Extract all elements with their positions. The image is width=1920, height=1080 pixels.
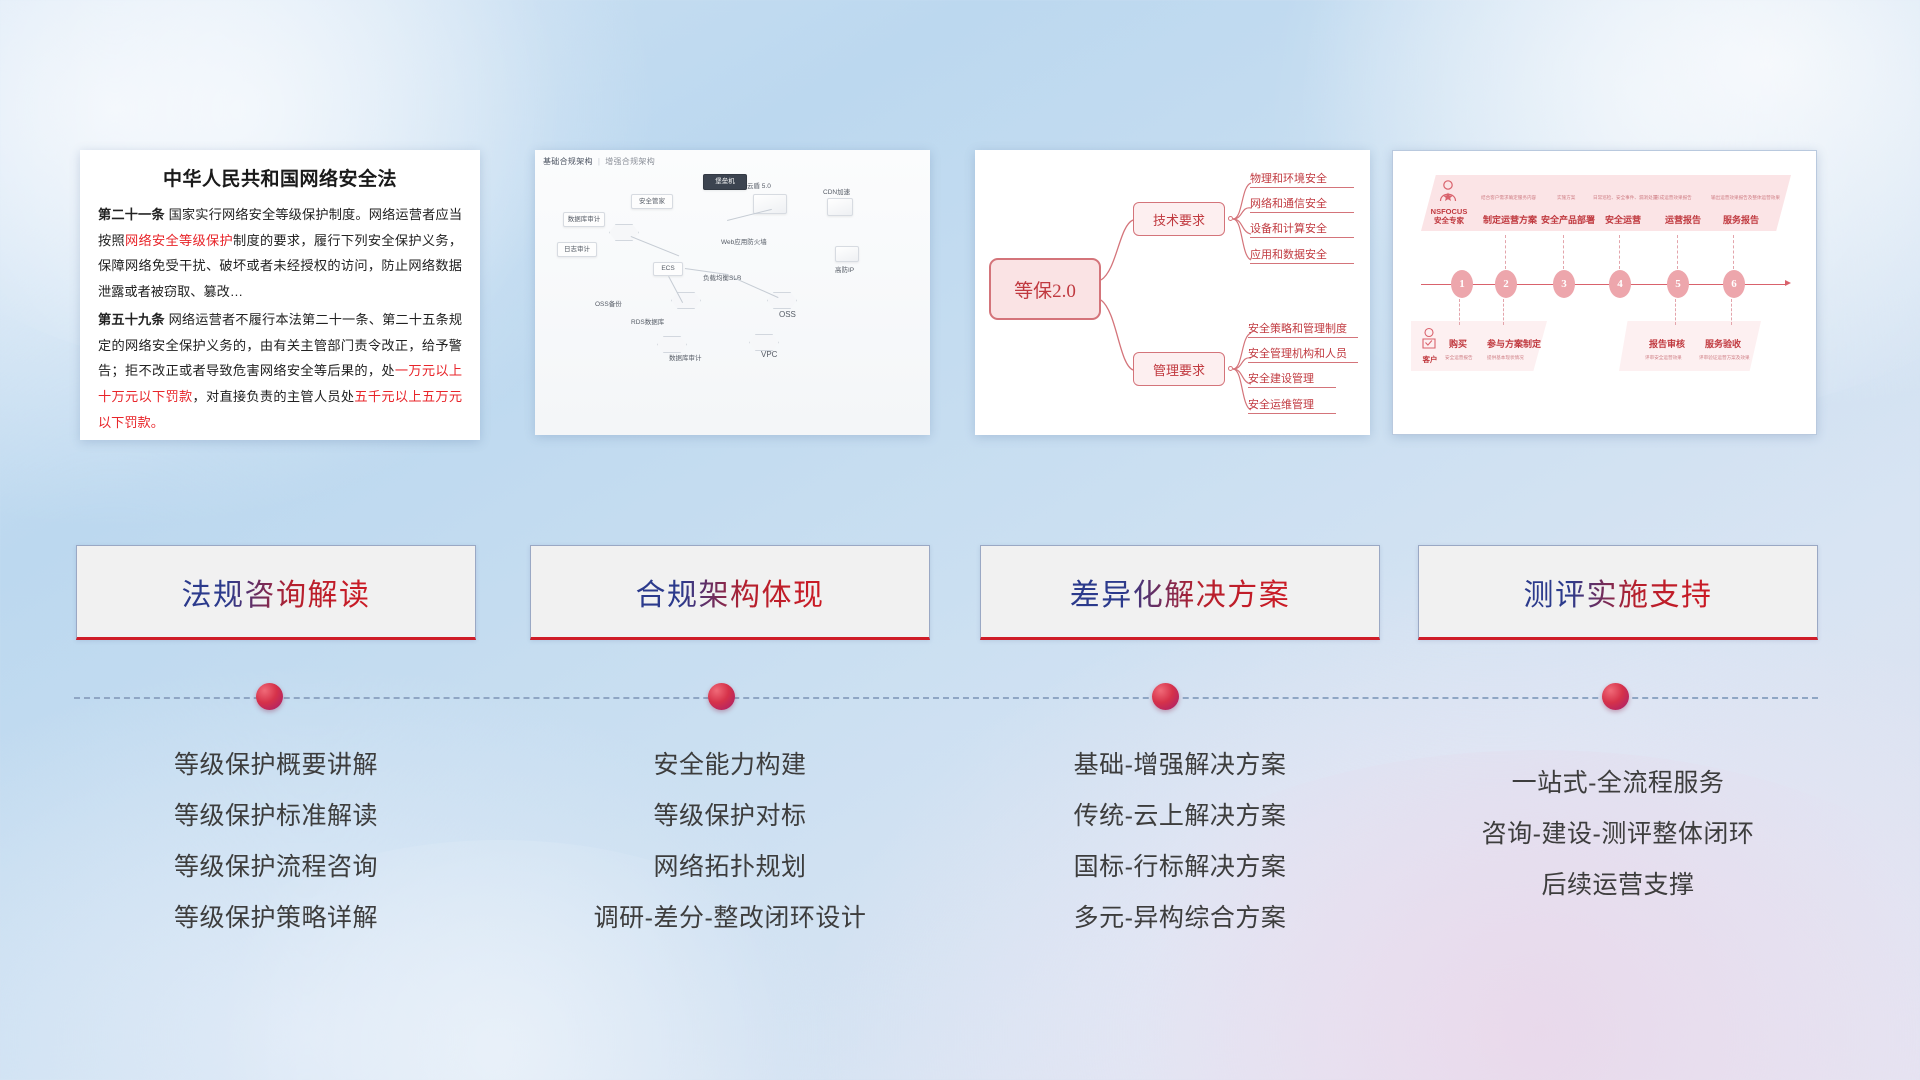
timeline-bottom-main-3: 报告审核 [1649, 337, 1685, 350]
list-item: 后续运营支撑 [1418, 860, 1818, 911]
axis-dashed-line [74, 697, 1818, 699]
process-axis [0, 695, 1920, 701]
list-item: 等级保护对标 [530, 791, 930, 842]
architecture-header: 基础合规架构|增强合规架构 [543, 156, 655, 167]
timeline-bottom-sub-2: 提供基本现状情况 [1487, 355, 1524, 361]
timeline-tick-1-bottom [1459, 299, 1460, 325]
timeline-node-4[interactable]: 4 [1609, 270, 1631, 298]
timeline-tick-5-bottom [1675, 299, 1676, 325]
arch-node-ecs: ECS [653, 262, 683, 276]
mindmap-leaf-tech-3: 设备和计算安全 [1250, 220, 1354, 238]
banner-compliance-architecture[interactable]: 合规架构体现 [530, 545, 930, 640]
mindmap-diagram: 等保2.0 技术要求 管理要求 物理和环境安全 网络和通信安全 设备和计算安全 … [975, 150, 1370, 435]
expert-person-icon [1437, 179, 1459, 205]
detail-list-row: 等级保护概要讲解 等级保护标准解读 等级保护流程咨询 等级保护策略详解 安全能力… [0, 740, 1920, 960]
list-item: 传统-云上解决方案 [980, 791, 1380, 842]
provider-brand: NSFOCUS [1431, 207, 1468, 216]
timeline-tick-3-top [1563, 235, 1564, 269]
list-item: 调研-差分-整改闭环设计 [530, 893, 930, 944]
mindmap-leaf-mgmt-3: 安全建设管理 [1248, 370, 1336, 388]
arch-node-security-butler: 安全管家 [631, 194, 673, 209]
provider-title: 安全专家 [1434, 216, 1464, 225]
timeline-top-main-3: 安全运营 [1605, 213, 1641, 226]
timeline-bottom-main-4: 服务验收 [1705, 337, 1741, 350]
article-59-text-b: ，对直接负责的主管人员处 [192, 389, 354, 404]
list-item: 多元-异构综合方案 [980, 893, 1380, 944]
timeline-top-main-2: 安全产品部署 [1541, 213, 1595, 226]
arch-node-log-audit: 日志审计 [557, 242, 597, 257]
timeline-tick-2-top [1505, 235, 1506, 269]
arch-hex-2 [671, 292, 701, 309]
card-cybersecurity-law[interactable]: 中华人民共和国网络安全法 第二十一条 国家实行网络安全等级保护制度。网络运营者应… [80, 150, 480, 440]
timeline-node-6[interactable]: 6 [1723, 270, 1745, 298]
banner-title-1: 法规咨询解读 [182, 570, 371, 614]
timeline-top-sub-3: 日常巡检、安全事件、漏洞处置 [1593, 195, 1657, 201]
detail-list-compliance-architecture: 安全能力构建 等级保护对标 网络拓扑规划 调研-差分-整改闭环设计 [530, 740, 930, 944]
detail-list-assessment-support: 一站式-全流程服务 咨询-建设-测评整体闭环 后续运营支撑 [1418, 758, 1818, 911]
list-item: 一站式-全流程服务 [1418, 758, 1818, 809]
timeline-bottom-main-2: 参与方案制定 [1487, 337, 1541, 350]
banner-title-3: 差异化解决方案 [1070, 570, 1291, 614]
axis-marker-1[interactable] [256, 683, 283, 710]
timeline-role-customer: 客户 [1417, 355, 1443, 364]
detail-list-differentiated-solutions: 基础-增强解决方案 传统-云上解决方案 国标-行标解决方案 多元-异构综合方案 [980, 740, 1380, 944]
timeline-bottom-sub-4: 评审验证运营方案及效果 [1699, 355, 1750, 361]
article-21-highlight: 网络安全等级保护 [125, 233, 233, 248]
architecture-header-left: 基础合规架构 [543, 157, 593, 166]
timeline-tick-4-top [1619, 235, 1620, 269]
list-item: 网络拓扑规划 [530, 842, 930, 893]
arch-link-5 [727, 209, 772, 221]
banner-title-2: 合规架构体现 [636, 570, 825, 614]
arch-link-3 [731, 276, 779, 298]
law-document: 中华人民共和国网络安全法 第二十一条 国家实行网络安全等级保护制度。网络运营者应… [80, 150, 480, 440]
list-item: 等级保护概要讲解 [76, 740, 476, 791]
mindmap-dot-technical [1228, 216, 1233, 221]
banner-row: 法规咨询解读 合规架构体现 差异化解决方案 测评实施支持 [0, 545, 1920, 643]
timeline-tick-5-top [1677, 235, 1678, 269]
arch-link-1 [631, 236, 680, 256]
arch-label-rds: RDS数据库 [631, 316, 664, 326]
timeline-axis-arrow [1785, 280, 1791, 286]
axis-marker-4[interactable] [1602, 683, 1629, 710]
list-item: 国标-行标解决方案 [980, 842, 1380, 893]
banner-assessment-support[interactable]: 测评实施支持 [1418, 545, 1818, 640]
card-service-timeline[interactable]: NSFOCUS 安全专家 客户 制定运营方案 结合客户需求确定服务内容 安全产品… [1392, 150, 1817, 435]
timeline-top-sub-4: 形成运营效果报告 [1655, 195, 1692, 201]
arch-label-oss: OSS [779, 310, 796, 319]
list-item: 等级保护流程咨询 [76, 842, 476, 893]
arch-node-cdn [827, 198, 853, 216]
mindmap-leaf-tech-2: 网络和通信安全 [1250, 195, 1354, 213]
timeline-node-2[interactable]: 2 [1495, 270, 1517, 298]
mindmap-leaf-mgmt-1: 安全策略和管理制度 [1248, 320, 1358, 338]
banner-differentiated-solutions[interactable]: 差异化解决方案 [980, 545, 1380, 640]
article-21-label: 第二十一条 [98, 207, 165, 222]
detail-list-regulation-consulting: 等级保护概要讲解 等级保护标准解读 等级保护流程咨询 等级保护策略详解 [76, 740, 476, 944]
mindmap-leaf-mgmt-4: 安全运维管理 [1248, 396, 1336, 414]
customer-title: 客户 [1423, 355, 1438, 364]
timeline-bottom-main-1: 购买 [1449, 337, 1467, 350]
timeline-top-main-1: 制定运营方案 [1483, 213, 1537, 226]
arch-label-oss-backup: OSS备份 [595, 298, 622, 308]
timeline-role-provider: NSFOCUS 安全专家 [1423, 207, 1475, 226]
timeline-bottom-sub-1: 安全运营报告 [1445, 355, 1473, 361]
list-item: 咨询-建设-测评整体闭环 [1418, 809, 1818, 860]
mindmap-leaf-tech-1: 物理和环境安全 [1250, 170, 1354, 188]
arch-label-anti-ddos: 高防IP [835, 264, 854, 274]
timeline-tick-2-bottom [1503, 299, 1504, 325]
timeline-top-main-5: 服务报告 [1723, 213, 1759, 226]
list-item: 安全能力构建 [530, 740, 930, 791]
law-article-21: 第二十一条 国家实行网络安全等级保护制度。网络运营者应当按照网络安全等级保护制度… [98, 202, 462, 305]
arch-node-bastion: 堡垒机 [703, 174, 747, 190]
architecture-diagram: 基础合规架构|增强合规架构 堡垒机 安全管家 数据库审计 日志审计 云盾 5.0… [535, 150, 930, 435]
timeline-top-sub-1: 结合客户需求确定服务内容 [1481, 195, 1536, 201]
timeline-node-3[interactable]: 3 [1553, 270, 1575, 298]
list-item: 基础-增强解决方案 [980, 740, 1380, 791]
arch-label-db-audit-2: 数据库审计 [669, 352, 702, 362]
timeline-top-sub-2: 实施方案 [1557, 195, 1575, 201]
timeline-node-5[interactable]: 5 [1667, 270, 1689, 298]
mindmap-leaf-tech-4: 应用和数据安全 [1250, 246, 1354, 264]
arch-hex-4 [749, 334, 779, 351]
customer-person-icon [1419, 327, 1439, 353]
arch-label-cloud-shield: 云盾 5.0 [747, 180, 771, 190]
arch-node-db-audit-1: 数据库审计 [563, 212, 605, 227]
timeline-top-main-4: 运营报告 [1665, 213, 1701, 226]
arch-label-vpc: VPC [761, 350, 777, 359]
card-compliance-architecture[interactable]: 基础合规架构|增强合规架构 堡垒机 安全管家 数据库审计 日志审计 云盾 5.0… [535, 150, 930, 435]
law-title: 中华人民共和国网络安全法 [98, 164, 462, 191]
mindmap-leaf-mgmt-2: 安全管理机构和人员 [1248, 345, 1358, 363]
arch-label-waf: Web应用防火墙 [721, 236, 767, 246]
axis-marker-2[interactable] [708, 683, 735, 710]
arch-hex-5 [657, 336, 687, 353]
arch-label-cdn: CDN加速 [823, 186, 850, 196]
mindmap-dot-management [1228, 366, 1233, 371]
arch-node-anti-ddos [835, 246, 859, 262]
banner-title-4: 测评实施支持 [1524, 570, 1713, 614]
card-mlps-mindmap[interactable]: 等保2.0 技术要求 管理要求 物理和环境安全 网络和通信安全 设备和计算安全 … [975, 150, 1370, 435]
list-item: 等级保护标准解读 [76, 791, 476, 842]
service-timeline-diagram: NSFOCUS 安全专家 客户 制定运营方案 结合客户需求确定服务内容 安全产品… [1393, 151, 1816, 434]
timeline-top-sub-5: 输出运营效果报告及整体运营效果 [1711, 195, 1780, 201]
law-article-59: 第五十九条 网络运营者不履行本法第二十一条、第二十五条规定的网络安全保护义务的，… [98, 307, 462, 436]
timeline-node-1[interactable]: 1 [1451, 270, 1473, 298]
article-59-label: 第五十九条 [98, 312, 165, 327]
timeline-tick-6-top [1733, 235, 1734, 269]
architecture-header-right: 增强合规架构 [605, 157, 655, 166]
timeline-tick-6-bottom [1731, 299, 1732, 325]
mindmap-connectors [975, 150, 1370, 435]
list-item: 等级保护策略详解 [76, 893, 476, 944]
axis-marker-3[interactable] [1152, 683, 1179, 710]
timeline-bottom-sub-3: 评审安全运营效果 [1645, 355, 1682, 361]
thumbnail-card-row: 中华人民共和国网络安全法 第二十一条 国家实行网络安全等级保护制度。网络运营者应… [0, 150, 1920, 440]
banner-regulation-consulting[interactable]: 法规咨询解读 [76, 545, 476, 640]
